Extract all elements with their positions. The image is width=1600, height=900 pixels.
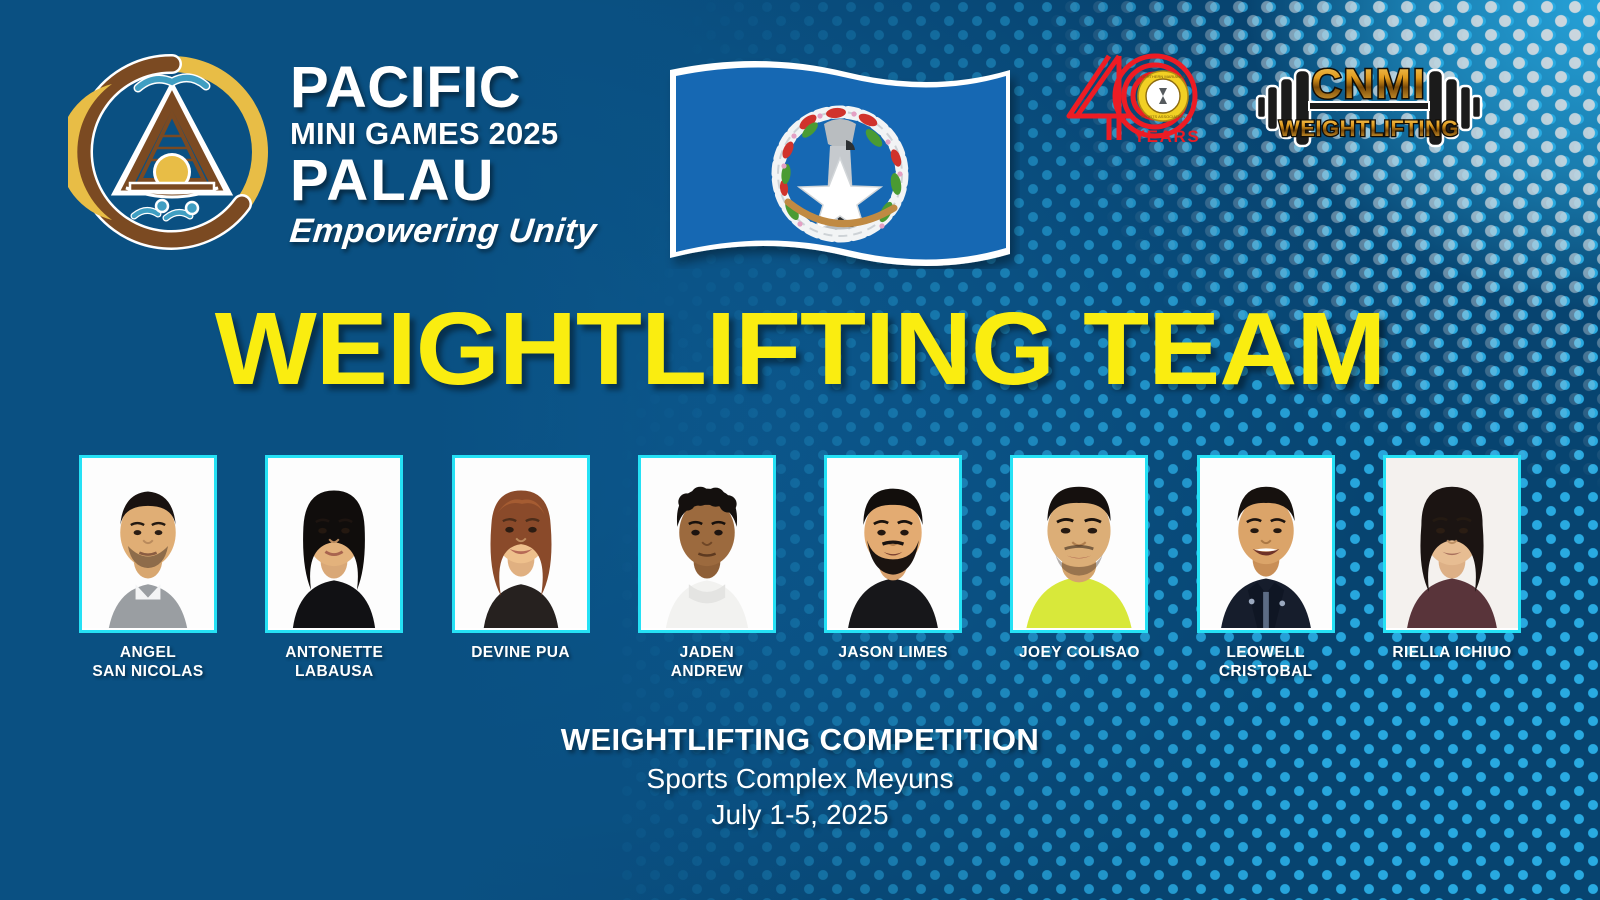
athlete-card[interactable]: ANTONETTE LABAUSA <box>254 455 414 682</box>
pacific-mini-games-logo: PACIFIC MINI GAMES 2025 PALAU Empowering… <box>68 48 596 256</box>
athlete-name: LEOWELL CRISTOBAL <box>1219 644 1313 682</box>
athlete-portrait-frame <box>638 455 776 633</box>
athlete-portrait-frame <box>1010 455 1148 633</box>
athlete-photo <box>1386 458 1518 628</box>
cnmi-flag-icon <box>660 54 1020 269</box>
athlete-name: RIELLA ICHIUO <box>1392 644 1511 663</box>
athlete-card[interactable]: JADEN ANDREW <box>627 455 787 682</box>
athlete-photo <box>82 458 214 628</box>
40-years-anniversary-seal-icon: NORTHERN MARIANAS SPORTS ASSOCIATION YEA… <box>1063 44 1213 154</box>
poster-footer: WEIGHTLIFTING COMPETITION Sports Complex… <box>0 722 1600 831</box>
athlete-card[interactable]: LEOWELL CRISTOBAL <box>1186 455 1346 682</box>
weightlifting-wordmark: WEIGHTLIFTING <box>1279 116 1459 141</box>
logo-line-palau: PALAU <box>290 153 596 210</box>
athlete-card[interactable]: JASON LIMES <box>813 455 973 663</box>
athlete-name: JASON LIMES <box>838 644 947 663</box>
athlete-portrait-frame <box>265 455 403 633</box>
athlete-card[interactable]: RIELLA ICHIUO <box>1372 455 1532 663</box>
athlete-photo <box>455 458 587 628</box>
svg-text:NORTHERN MARIANAS: NORTHERN MARIANAS <box>1141 74 1186 79</box>
event-title: WEIGHTLIFTING COMPETITION <box>0 722 1600 758</box>
poster-header: PACIFIC MINI GAMES 2025 PALAU Empowering… <box>0 0 1600 290</box>
athlete-photo <box>1013 458 1145 628</box>
event-dates: July 1-5, 2025 <box>0 799 1600 831</box>
logo-line-pacific: PACIFIC <box>290 60 596 116</box>
cnmi-weightlifting-logo: CNMI WEIGHTLIFTING <box>1253 52 1485 164</box>
athlete-roster: ANGEL SAN NICOLAS ANTONET <box>68 455 1532 685</box>
athlete-portrait-frame <box>79 455 217 633</box>
athlete-portrait-frame <box>452 455 590 633</box>
athlete-card[interactable]: ANGEL SAN NICOLAS <box>68 455 228 682</box>
logo-tagline: Empowering Unity <box>288 212 598 250</box>
athlete-card[interactable]: JOEY COLISAO <box>999 455 1159 663</box>
athlete-portrait-frame <box>1197 455 1335 633</box>
athlete-photo <box>827 458 959 628</box>
athlete-card[interactable]: DEVINE PUA <box>441 455 601 663</box>
athlete-name: DEVINE PUA <box>471 644 570 663</box>
athlete-name: ANGEL SAN NICOLAS <box>92 644 203 682</box>
athlete-photo <box>268 458 400 628</box>
pacific-mini-games-wordmark: PACIFIC MINI GAMES 2025 PALAU Empowering… <box>290 54 596 249</box>
pacific-mini-games-seal-icon <box>68 48 276 256</box>
athlete-photo <box>641 458 773 628</box>
page-title: WEIGHTLIFTING TEAM <box>0 297 1600 400</box>
athlete-portrait-frame <box>1383 455 1521 633</box>
athlete-name: JOEY COLISAO <box>1019 644 1140 663</box>
svg-text:YEARS: YEARS <box>1134 127 1201 146</box>
svg-text:SPORTS ASSOCIATION: SPORTS ASSOCIATION <box>1141 114 1185 119</box>
cnmi-wordmark: CNMI <box>1311 60 1426 107</box>
athlete-name: JADEN ANDREW <box>671 644 743 682</box>
event-venue: Sports Complex Meyuns <box>0 763 1600 795</box>
athlete-name: ANTONETTE LABAUSA <box>285 644 383 682</box>
athlete-photo <box>1200 458 1332 628</box>
athlete-portrait-frame <box>824 455 962 633</box>
poster-canvas: PACIFIC MINI GAMES 2025 PALAU Empowering… <box>0 0 1600 900</box>
